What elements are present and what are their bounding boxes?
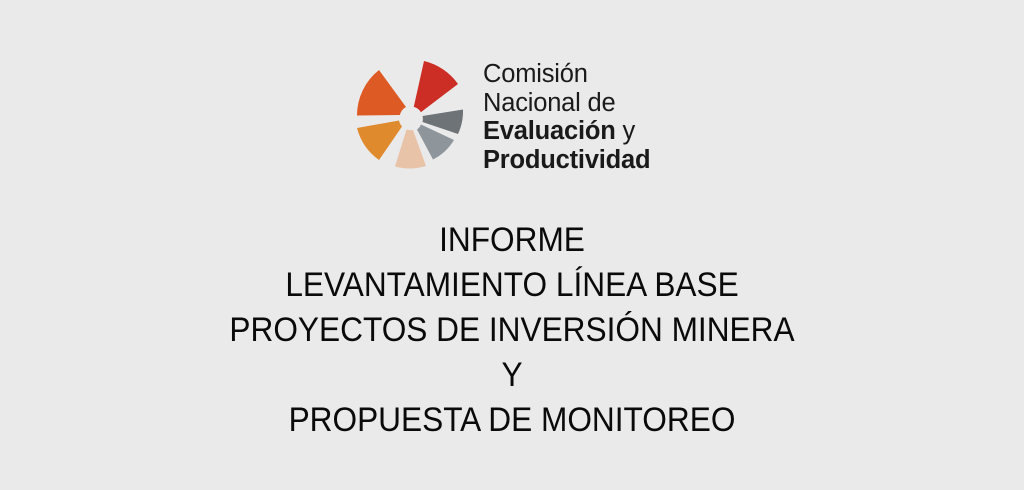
- cnep-pinwheel-logo-icon: [355, 43, 467, 183]
- cover-page: Comisión Nacional de Evaluación y Produc…: [0, 0, 1024, 490]
- title-line-levantamiento: LEVANTAMIENTO LÍNEA BASE: [36, 263, 988, 308]
- title-line-propuesta: PROPUESTA DE MONITOREO: [36, 398, 988, 443]
- document-title: INFORME LEVANTAMIENTO LÍNEA BASE PROYECT…: [0, 218, 1024, 442]
- logo-wordmark: Comisión Nacional de Evaluación y Produc…: [483, 40, 650, 176]
- title-line-conjunction: Y: [36, 353, 988, 398]
- logo-wordmark-evaluacion: Evaluación: [483, 117, 616, 145]
- logo-wordmark-line-3: Evaluación y: [483, 119, 650, 145]
- logo-wordmark-conjunction: y: [616, 117, 635, 145]
- title-line-informe: INFORME: [36, 218, 988, 263]
- segment-red-icon: [414, 61, 459, 113]
- segment-orange-dark-icon: [357, 70, 406, 116]
- logo-wordmark-line-1: Comisión: [483, 62, 650, 88]
- logo-wordmark-line-2: Nacional de: [483, 91, 650, 117]
- title-line-proyectos: PROYECTOS DE INVERSIÓN MINERA: [36, 308, 988, 353]
- segment-orange-light-icon: [357, 121, 402, 161]
- logo-wordmark-line-4: Productividad: [483, 148, 650, 174]
- organization-logo: Comisión Nacional de Evaluación y Produc…: [355, 40, 685, 185]
- logo-center-hole: [400, 107, 423, 130]
